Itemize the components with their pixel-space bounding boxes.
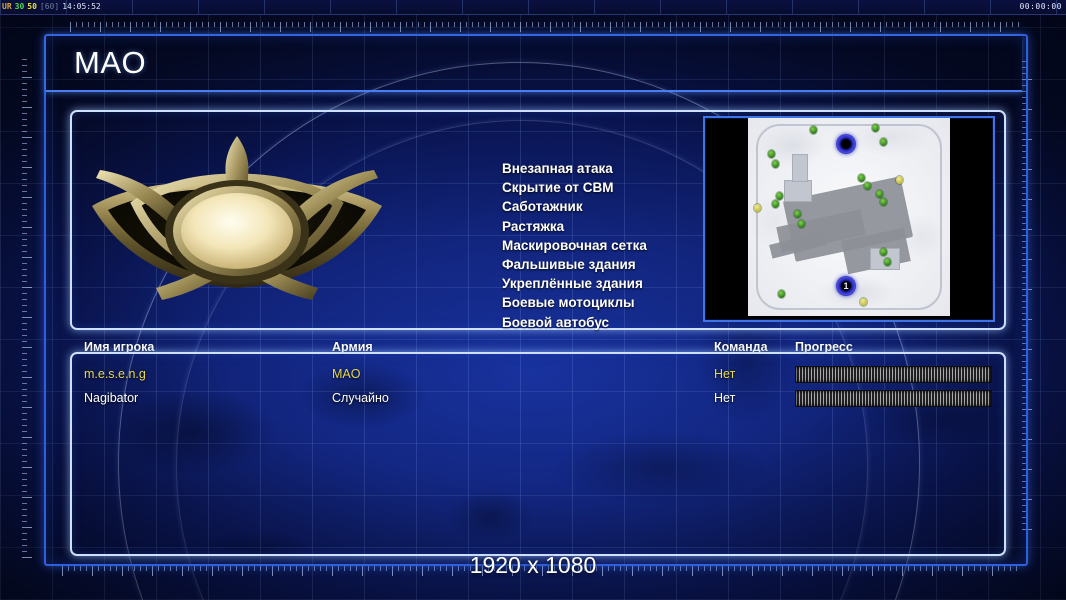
map-tree	[798, 220, 805, 228]
map-structure	[784, 180, 812, 202]
ruler-left	[22, 58, 34, 558]
map-preview[interactable]: 1	[703, 116, 995, 322]
top-bar-ticks	[0, 0, 1066, 14]
map-start-position[interactable]	[836, 134, 856, 154]
map-start-position[interactable]: 1	[836, 276, 856, 296]
map-tree	[778, 290, 785, 298]
resolution-label: 1920 x 1080	[0, 552, 1066, 579]
player-progress-bar	[795, 366, 992, 383]
gla-emblem-icon	[82, 128, 392, 313]
map-tree	[864, 182, 871, 190]
ruler-top	[70, 22, 1020, 34]
elapsed-clock: 00:00:00	[1019, 1, 1062, 12]
map-structure	[792, 154, 808, 182]
map-tree	[772, 200, 779, 208]
player-progress-bar	[795, 390, 992, 407]
map-tree	[858, 174, 865, 182]
map-tree	[754, 204, 761, 212]
network-status-text: UR3050[60]14:05:52	[2, 1, 104, 12]
map-start-label	[836, 134, 856, 154]
game-lobby-screen: UR3050[60]14:05:52 00:00:00 MAO	[0, 0, 1066, 600]
map-image: 1	[748, 118, 950, 316]
map-tree	[772, 160, 779, 168]
player-army[interactable]: MAO	[332, 362, 360, 386]
map-tree	[876, 190, 883, 198]
player-name: m.e.s.e.n.g	[84, 362, 146, 386]
map-tree	[860, 298, 867, 306]
table-row[interactable]: Nagibator Случайно Нет	[72, 386, 1000, 410]
map-tree	[776, 192, 783, 200]
map-tree	[810, 126, 817, 134]
player-name: Nagibator	[84, 386, 138, 410]
status-timestamp: 14:05:52	[62, 2, 101, 11]
status-prefix: UR	[2, 2, 12, 11]
top-status-bar: UR3050[60]14:05:52 00:00:00	[0, 0, 1066, 15]
map-tree	[872, 124, 879, 132]
page-title: MAO	[74, 45, 146, 81]
map-start-label: 1	[836, 276, 856, 296]
player-army[interactable]: Случайно	[332, 386, 389, 410]
player-table-rows: m.e.s.e.n.g MAO Нет Nagibator Случайно Н…	[72, 362, 1000, 410]
map-tree	[768, 150, 775, 158]
map-tree	[896, 176, 903, 184]
map-tree	[880, 198, 887, 206]
map-tree	[880, 138, 887, 146]
table-row[interactable]: m.e.s.e.n.g MAO Нет	[72, 362, 1000, 386]
status-value-a: 30	[15, 2, 25, 11]
map-tree	[794, 210, 801, 218]
status-value-b: 50	[27, 2, 37, 11]
player-team[interactable]: Нет	[714, 386, 735, 410]
map-tree	[884, 258, 891, 266]
status-value-c: [60]	[40, 2, 59, 11]
title-bar	[46, 36, 1022, 92]
player-team[interactable]: Нет	[714, 362, 735, 386]
map-tree	[880, 248, 887, 256]
